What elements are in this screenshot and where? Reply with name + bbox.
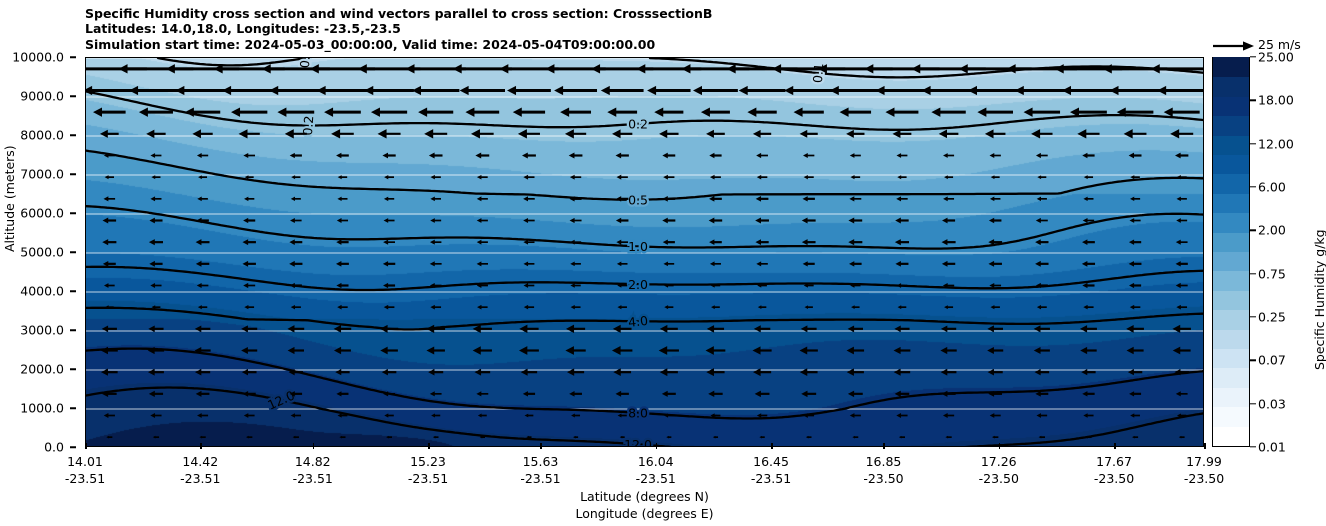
wind-vector-arrow <box>1037 305 1047 309</box>
y-axis-tick-label: 2000.0 <box>20 362 64 377</box>
wind-vector-arrow <box>1176 218 1187 223</box>
wind-vector-arrow <box>659 130 678 138</box>
wind-vector-arrow <box>477 240 488 245</box>
wind-vector-arrow <box>850 175 860 179</box>
wind-vector-arrow <box>800 346 818 354</box>
wind-vector-arrow <box>1129 391 1141 396</box>
wind-vector-arrow <box>231 107 267 116</box>
colorbar-segment <box>1213 193 1249 213</box>
wind-vector-arrow <box>383 240 395 245</box>
wind-vector-arrow <box>784 86 833 95</box>
wind-vector-arrow <box>1176 391 1188 396</box>
wind-vector-arrow <box>1036 413 1047 418</box>
wind-vector-arrow <box>757 175 768 180</box>
wind-vector-arrow <box>804 175 814 179</box>
wind-vector-arrow <box>288 347 304 354</box>
x-axis-longitude-label: -23.51 <box>180 470 220 487</box>
wind-vector-arrow <box>524 305 534 310</box>
wind-vector-arrow <box>708 391 722 397</box>
wind-vector-arrow <box>523 391 535 396</box>
contour-label: 0.1 <box>810 63 826 84</box>
wind-vector-arrow <box>806 436 812 439</box>
x-axis-tick-mark <box>1204 443 1206 449</box>
y-axis-tick-mark <box>70 56 76 58</box>
wind-vector-arrow <box>149 261 162 267</box>
wind-vector-arrow <box>990 305 999 309</box>
colorbar-tick-mark <box>1250 403 1256 404</box>
wind-vector-arrow <box>944 305 953 309</box>
x-axis-latitude-label: 16.04 <box>636 453 676 470</box>
colorbar-tick-label: 12.00 <box>1258 136 1294 151</box>
wind-vector-arrow <box>990 153 1001 158</box>
wind-vector-arrow <box>383 261 395 266</box>
wind-vector-arrow <box>433 436 439 439</box>
plot-overlay: 0.10.10.20.20.51.02.04.08.012.012.0 <box>86 58 1204 447</box>
y-axis-tick-label: 9000.0 <box>20 89 64 104</box>
wind-vector-arrow <box>104 413 115 418</box>
wind-vector-arrow <box>616 218 629 223</box>
colorbar-tick-label: 2.00 <box>1258 223 1286 238</box>
wind-vector-arrow <box>150 413 161 418</box>
wind-vector-arrow <box>289 239 302 245</box>
wind-vector-arrow <box>850 153 861 158</box>
y-axis-tick-mark <box>70 290 76 292</box>
wind-vector-arrow <box>1176 240 1188 245</box>
wind-vector-arrow <box>885 107 918 116</box>
colorbar-gradient <box>1213 58 1249 446</box>
colorbar-tick-label: 0.25 <box>1258 310 1286 325</box>
colorbar-segment <box>1213 212 1249 232</box>
wind-vector-arrow <box>291 197 301 201</box>
wind-vector-arrow <box>850 413 861 418</box>
wind-vector-arrow <box>942 261 955 267</box>
wind-vector-arrow <box>197 283 209 288</box>
wind-vector-arrow <box>198 305 207 309</box>
wind-vector-arrow <box>940 347 956 354</box>
wind-vector-arrow <box>1130 197 1140 201</box>
wind-vector-arrow <box>968 86 1022 95</box>
wind-vector-arrow <box>1082 283 1094 288</box>
wind-vector-arrow <box>103 218 117 224</box>
x-axis-longitude-label: -23.51 <box>65 470 105 487</box>
svg-text:4.0: 4.0 <box>627 313 648 330</box>
wind-vector-arrow <box>150 153 161 158</box>
wind-vector-arrow <box>1164 107 1200 116</box>
wind-vector-arrow <box>1084 175 1093 179</box>
colorbar-segment <box>1213 251 1249 271</box>
colorbar-segment <box>1213 115 1249 135</box>
x-axis-tick-mark <box>313 443 315 449</box>
x-axis-latitude-label: 17.26 <box>979 453 1019 470</box>
wind-vector-arrow <box>291 305 301 309</box>
wind-vector-arrow <box>149 218 162 224</box>
y-axis: 0.01000.02000.03000.04000.05000.06000.07… <box>0 57 76 447</box>
svg-text:1.0: 1.0 <box>628 239 648 254</box>
x-axis-tick-group: 14.01-23.51 <box>65 453 105 487</box>
colorbar-tick-mark <box>1250 446 1256 447</box>
wind-vector-arrow <box>943 153 954 158</box>
wind-vector-arrow <box>339 436 345 439</box>
wind-vector-arrow <box>518 129 540 138</box>
wind-vector-arrow <box>616 240 628 245</box>
wind-vector-arrow <box>473 346 492 354</box>
wind-vector-arrow <box>662 391 676 397</box>
wind-vector-arrow <box>324 107 361 116</box>
colorbar[interactable] <box>1212 57 1250 447</box>
wind-vector-arrow <box>713 436 718 439</box>
x-axis-tick-mark <box>1114 443 1116 449</box>
wind-vector-arrow <box>840 107 872 116</box>
wind-vector-arrow <box>570 218 582 223</box>
colorbar-segment <box>1213 329 1249 349</box>
wind-vector-arrow <box>291 175 300 179</box>
wind-vector-arrow <box>386 436 392 439</box>
wind-vector-arrow <box>150 283 161 288</box>
wind-vector-arrow <box>852 436 858 439</box>
wind-vector-arrow <box>647 86 690 95</box>
wind-vector-arrow <box>847 347 865 355</box>
y-axis-tick-mark <box>70 446 76 448</box>
wind-vector-arrow <box>709 239 722 245</box>
wind-vector-arrow <box>1039 436 1045 439</box>
wind-vector-arrow <box>384 413 393 417</box>
x-axis: 14.01-23.5114.42-23.5114.82-23.5115.23-2… <box>85 449 1204 489</box>
wind-vector-arrow <box>243 153 255 158</box>
wind-vector-arrow <box>1080 347 1096 354</box>
wind-vector-arrow <box>1127 347 1144 354</box>
x-axis-latitude-label: 17.99 <box>1184 453 1224 470</box>
wind-vector-arrow <box>1177 197 1187 202</box>
wind-vector-arrow <box>922 86 976 95</box>
colorbar-tick-label: 0.01 <box>1258 440 1286 455</box>
wind-vector-arrow <box>105 175 114 179</box>
wind-vector-arrow <box>430 240 441 245</box>
wind-vector-arrow <box>244 413 255 418</box>
wind-vector-arrow <box>709 153 721 158</box>
contour-label: 4.0 <box>627 313 648 330</box>
svg-text:0.2: 0.2 <box>628 116 648 131</box>
wind-vector-arrow <box>899 436 905 439</box>
wind-vector-arrow <box>378 129 401 138</box>
colorbar-segment <box>1213 135 1249 155</box>
x-axis-latitude-label: 16.45 <box>751 453 791 470</box>
wind-vector-arrow <box>102 239 116 245</box>
wind-vector-arrow <box>849 196 861 201</box>
wind-vector-arrow <box>523 261 534 266</box>
wind-vector-arrow <box>565 129 586 138</box>
wind-vector-arrow <box>289 261 302 267</box>
chart-figure: Specific Humidity cross section and wind… <box>0 0 1326 526</box>
contour-label: 0.2 <box>628 116 648 131</box>
wind-vector-arrow <box>384 218 395 223</box>
wind-vector-arrow <box>197 413 208 418</box>
wind-vector-arrow <box>802 239 816 245</box>
x-axis-tick-group: 16.85-23.50 <box>863 453 903 487</box>
x-axis-tick-group: 16.45-23.51 <box>751 453 791 487</box>
wind-vector-arrow <box>654 107 683 116</box>
wind-vector-arrow <box>1015 86 1069 95</box>
wind-vector-arrow <box>507 86 551 95</box>
colorbar-tick-mark <box>1250 56 1256 57</box>
x-axis-latitude-label: 14.82 <box>293 453 333 470</box>
wind-vector-arrow <box>615 153 628 159</box>
wind-vector-arrow <box>753 368 771 376</box>
colorbar-tick-label: 6.00 <box>1258 180 1286 195</box>
wind-vector-arrow <box>565 346 585 355</box>
wind-vector-arrow <box>383 283 395 288</box>
wind-vector-arrow <box>197 197 208 202</box>
wind-vector-arrow <box>129 86 183 95</box>
x-axis-longitude-label: -23.51 <box>751 470 791 487</box>
colorbar-tick-mark <box>1250 273 1256 274</box>
y-axis-tick-mark <box>70 368 76 370</box>
colorbar-segment <box>1213 57 1249 77</box>
wind-vector-arrow <box>830 86 881 95</box>
wind-vector-arrow <box>1129 153 1142 159</box>
wind-vector-arrow <box>710 261 721 266</box>
wind-vector-arrow <box>1036 153 1048 158</box>
colorbar-tick-mark <box>1250 360 1256 361</box>
wind-vector-arrow <box>1083 197 1093 201</box>
wind-vector-arrow <box>242 261 255 267</box>
wind-vector-arrow <box>1179 436 1185 439</box>
colorbar-tick-label: 0.07 <box>1258 353 1286 368</box>
wind-vector-arrow <box>803 261 815 266</box>
contour-label: 1.0 <box>628 239 648 254</box>
wind-vector-arrow <box>941 391 955 397</box>
wind-vector-arrow <box>755 217 769 223</box>
wind-vector-arrow <box>617 262 628 267</box>
contour-label: 0.5 <box>628 192 648 207</box>
wind-vector-arrow <box>756 196 769 202</box>
x-axis-tick-mark <box>428 443 430 449</box>
wind-vector-arrow <box>338 175 347 179</box>
contour-label: 8.0 <box>628 405 648 420</box>
wind-vector-arrow <box>471 129 494 138</box>
title-line-1: Specific Humidity cross section and wind… <box>85 6 1205 21</box>
wind-vector-arrow <box>175 86 229 95</box>
wind-vector-arrow <box>942 239 956 245</box>
wind-vector-arrow <box>944 175 953 179</box>
wind-vector-arrow <box>519 325 538 333</box>
wind-vector-arrow <box>100 130 119 138</box>
wind-vector-arrow <box>476 391 488 396</box>
colorbar-title: Specific Humidity g/kg <box>1312 229 1326 370</box>
x-axis-tick-group: 16.04-23.51 <box>636 453 676 487</box>
wind-vector-arrow <box>384 305 395 310</box>
wind-vector-arrow <box>460 86 505 95</box>
wind-vector-arrow <box>1109 86 1160 95</box>
wind-vector-arrow <box>430 391 442 396</box>
wind-vector-arrow <box>618 413 627 417</box>
y-axis-tick-label: 8000.0 <box>20 128 64 143</box>
wind-vector-arrow <box>336 391 348 396</box>
title-line-2: Latitudes: 14.0,18.0, Longitudes: -23.5,… <box>85 21 1205 36</box>
colorbar-tick-mark <box>1250 143 1256 144</box>
y-axis-tick-label: 6000.0 <box>20 206 64 221</box>
wind-vector-arrow <box>804 305 812 309</box>
wind-vector-arrow <box>199 436 205 439</box>
colorbar-segment <box>1213 309 1249 329</box>
wind-vector-arrow <box>756 153 768 158</box>
wind-vector-arrow <box>849 261 862 266</box>
x-axis-caption-latitude: Latitude (degrees N) <box>85 489 1204 504</box>
wind-vector-arrow <box>380 347 398 355</box>
wind-vector-arrow <box>244 305 254 309</box>
wind-vector-arrow <box>1037 197 1047 201</box>
x-axis-longitude-label: -23.50 <box>1184 470 1224 487</box>
wind-vector-arrow <box>758 305 767 309</box>
y-axis-tick-label: 0.0 <box>44 440 64 455</box>
wind-vector-arrow <box>659 346 679 355</box>
wind-vector-arrow <box>896 153 907 158</box>
wind-vector-arrow <box>1024 107 1060 116</box>
wind-vector-arrow <box>706 368 724 376</box>
wind-vector-arrow <box>430 197 441 202</box>
x-axis-tick-mark <box>999 443 1001 449</box>
wind-vector-arrow <box>336 153 349 159</box>
wind-vector-arrow <box>1130 305 1141 310</box>
wind-vector-arrow <box>990 413 1001 418</box>
colorbar-segment <box>1213 154 1249 174</box>
y-axis-tick-label: 7000.0 <box>20 167 64 182</box>
wind-vector-arrow <box>756 261 768 266</box>
wind-vector-arrow <box>1173 347 1191 355</box>
wind-vector-arrow <box>331 129 354 138</box>
y-axis-tick-label: 5000.0 <box>20 245 64 260</box>
wind-vector-arrow <box>1062 86 1115 95</box>
wind-vector-arrow <box>1176 283 1188 288</box>
wind-vector-arrow <box>896 413 907 418</box>
wind-vector-arrow <box>334 347 351 354</box>
wind-vector-arrow <box>560 107 591 116</box>
colorbar-segment <box>1213 270 1249 290</box>
x-axis-longitude-label: -23.51 <box>293 470 333 487</box>
colorbar-segment <box>1213 96 1249 116</box>
wind-vector-arrow <box>755 391 770 397</box>
x-axis-longitude-label: -23.51 <box>636 470 676 487</box>
wind-vector-arrow <box>660 325 678 333</box>
wind-vector-arrow <box>1082 391 1094 396</box>
wind-vector-arrow <box>571 414 580 418</box>
wind-vector-arrow <box>1031 129 1052 138</box>
x-axis-tick-group: 15.23-23.51 <box>408 453 448 487</box>
wind-vector-arrow <box>601 86 644 95</box>
x-axis-tick-group: 15.63-23.51 <box>520 453 560 487</box>
wind-vector-arrow <box>991 175 1000 179</box>
wind-vector-arrow <box>554 86 597 95</box>
wind-vector-arrow <box>412 86 459 95</box>
wind-vector-arrow <box>897 283 908 288</box>
wind-vector-arrow <box>569 391 582 397</box>
colorbar-tick-label: 0.75 <box>1258 266 1286 281</box>
colorbar-segment <box>1213 387 1249 407</box>
wind-vector-arrow <box>755 239 768 245</box>
wind-vector-arrow <box>1132 436 1138 439</box>
wind-vector-arrow <box>519 346 539 355</box>
x-axis-tick-mark <box>85 443 87 449</box>
x-axis-latitude-label: 16.85 <box>863 453 903 470</box>
wind-vector-arrow <box>243 283 255 288</box>
y-axis-tick-mark <box>70 95 76 97</box>
wind-vector-arrow <box>1083 413 1093 417</box>
wind-vector-arrow <box>990 197 1001 202</box>
colorbar-tick-label: 18.00 <box>1258 93 1294 108</box>
contour-label: 12.0 <box>624 437 652 447</box>
colorbar-tick-mark <box>1250 230 1256 231</box>
wind-vector-arrow <box>222 86 276 95</box>
wind-vector-arrow <box>803 153 814 158</box>
x-axis-longitude-label: -23.50 <box>1094 470 1134 487</box>
wind-vector-arrow <box>759 436 764 439</box>
wind-vector-arrow <box>1176 261 1188 266</box>
wind-vector-arrow <box>196 261 209 267</box>
wind-vector-arrow <box>149 239 163 245</box>
y-axis-tick-label: 3000.0 <box>20 323 64 338</box>
contour-line <box>158 58 305 65</box>
wind-vector-arrow <box>1129 239 1141 244</box>
wind-vector-arrow <box>317 86 369 95</box>
wind-vector-arrow <box>418 107 453 116</box>
wind-vector-arrow <box>943 196 954 201</box>
wind-vector-arrow <box>709 196 722 202</box>
wind-vector-arrow <box>430 305 441 310</box>
wind-vector-arrow <box>747 107 776 116</box>
wind-vector-arrow <box>942 218 955 224</box>
y-axis-tick-mark <box>70 134 76 136</box>
x-axis-latitude-label: 14.01 <box>65 453 105 470</box>
wind-vector-arrow <box>939 130 959 139</box>
x-axis-tick-group: 17.99-23.50 <box>1184 453 1224 487</box>
wind-vector-arrow <box>570 262 581 267</box>
x-axis-longitude-label: -23.50 <box>863 470 903 487</box>
wind-vector-arrow <box>848 239 862 245</box>
wind-vector-arrow <box>898 305 907 309</box>
cross-section-plot[interactable]: 0.10.10.20.20.51.02.04.08.012.012.0 <box>85 57 1204 447</box>
wind-vector-arrow <box>478 414 487 418</box>
wind-vector-arrow <box>243 218 255 223</box>
wind-vector-arrow <box>615 391 628 397</box>
colorbar-segment <box>1213 76 1249 96</box>
wind-vector-arrow <box>896 196 907 201</box>
wind-vector-arrow <box>1077 129 1099 138</box>
wind-vector-arrow <box>1175 153 1188 159</box>
wind-vector-arrow <box>1036 218 1048 223</box>
wind-vector-arrow <box>894 347 911 354</box>
wind-vector-arrow <box>523 196 535 201</box>
wind-vector-arrow <box>1082 239 1095 245</box>
colorbar-segment <box>1213 367 1249 387</box>
wind-vector-arrow <box>149 391 163 397</box>
colorbar-tick-label: 25.00 <box>1258 50 1294 65</box>
y-axis-tick-mark <box>70 329 76 331</box>
x-axis-tick-mark <box>883 443 885 449</box>
wind-vector-arrow <box>239 129 260 138</box>
wind-vector-arrow <box>477 218 488 223</box>
wind-vector-arrow <box>895 239 909 245</box>
wind-vector-arrow <box>196 391 210 397</box>
wind-vector-arrow <box>992 436 998 439</box>
contour-line <box>86 388 680 448</box>
wind-vector-arrow <box>1176 305 1187 310</box>
y-axis-tick-mark <box>70 251 76 253</box>
wind-vector-arrow <box>706 346 726 355</box>
wind-vector-arrow <box>196 239 210 245</box>
wind-vector-arrow <box>1124 129 1147 138</box>
wind-vector-arrow <box>424 129 447 138</box>
wind-vector-arrow <box>846 130 864 138</box>
colorbar-segment <box>1213 173 1249 193</box>
